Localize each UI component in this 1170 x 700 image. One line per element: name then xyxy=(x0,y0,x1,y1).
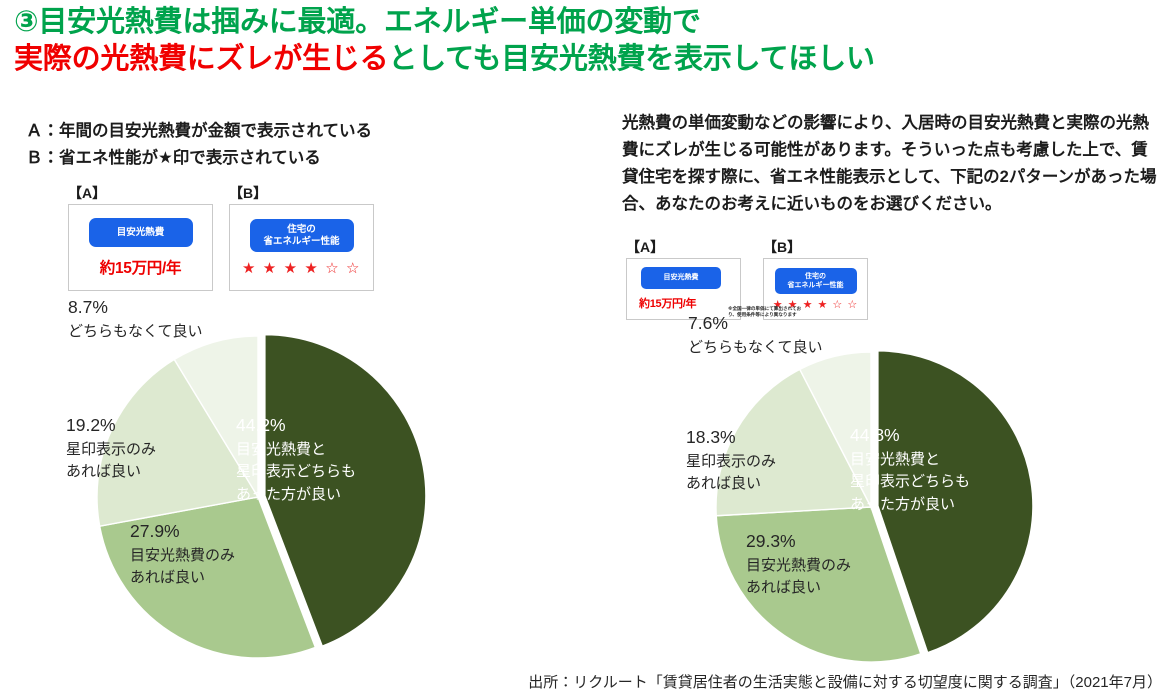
left-box-a-column: 【A】 目安光熱費 約15万円/年 xyxy=(68,186,213,291)
left-box-a: 目安光熱費 約15万円/年 xyxy=(68,204,213,291)
left-legend: Ａ：年間の目安光熱費が金額で表示されている Ｂ：省エネ性能が★印で表示されている xyxy=(26,118,372,171)
source-note: 出所：リクルート「賃貸居住者の生活実態と設備に対する切望度に関する調査」（202… xyxy=(0,671,1162,692)
left-box-a-pill: 目安光熱費 xyxy=(89,218,193,247)
right-pie-label-neither: 7.6%どちらもなくて良い xyxy=(688,310,823,359)
left-box-b-column: 【B】 住宅の 省エネルギー性能 ★ ★ ★ ★ ☆ ☆ xyxy=(229,186,374,291)
right-box-b-pill: 住宅の 省エネルギー性能 xyxy=(775,268,857,294)
left-box-b-pill: 住宅の 省エネルギー性能 xyxy=(250,219,354,252)
left-box-a-tag: 【A】 xyxy=(68,186,213,201)
right-pie-label-star-only: 18.3%星印表示のみあれば良い xyxy=(686,424,776,496)
title-line-2-green: としても目安光熱費を表示してほしい xyxy=(388,43,874,75)
title-line-2: 実際の光熱費にズレが生じるとしても目安光熱費を表示してほしい xyxy=(14,41,1164,78)
right-pie-label-both: 44.8%目安光熱費と星印表示どちらもあった方が良い xyxy=(850,422,970,517)
left-pie-chart: 44.2%目安光熱費と星印表示どちらもあった方が良い 27.9%目安光熱費のみあ… xyxy=(88,332,428,662)
left-legend-a: Ａ：年間の目安光熱費が金額で表示されている xyxy=(26,118,372,145)
right-pie-chart: 44.8%目安光熱費と星印表示どちらもあった方が良い 29.3%目安光熱費のみあ… xyxy=(706,348,1036,666)
left-box-b-pill-line2: 省エネルギー性能 xyxy=(263,236,339,248)
left-ab-boxes: 【A】 目安光熱費 約15万円/年 【B】 住宅の 省エネルギー性能 ★ ★ ★… xyxy=(68,186,374,291)
left-box-b-star-rating: ★ ★ ★ ★ ☆ ☆ xyxy=(242,261,361,276)
right-ab-boxes: 【A】 目安光熱費 約15万円/年 ※全国一律の単価にて算出されており、使用条件… xyxy=(626,240,868,320)
right-pie-label-cost-only: 29.3%目安光熱費のみあれば良い xyxy=(746,528,851,600)
title-line-2-red: 実際の光熱費にズレが生じる xyxy=(14,43,388,75)
left-box-b-tag: 【B】 xyxy=(229,186,374,201)
right-box-a-pill: 目安光熱費 xyxy=(641,267,721,289)
right-box-b-pill-line1: 住宅の xyxy=(805,272,826,281)
right-box-a-amount: 約15万円/年 xyxy=(639,295,696,311)
left-pie-label-both: 44.2%目安光熱費と星印表示どちらもあった方が良い xyxy=(236,412,356,507)
title-line-1: ③目安光熱費は掴みに最適。エネルギー単価の変動で xyxy=(14,4,1164,41)
left-pie-label-neither: 8.7%どちらもなくて良い xyxy=(68,294,203,343)
left-pie-label-cost-only: 27.9%目安光熱費のみあれば良い xyxy=(130,518,235,590)
page-title: ③目安光熱費は掴みに最適。エネルギー単価の変動で 実際の光熱費にズレが生じるとし… xyxy=(14,4,1164,78)
left-box-a-amount: 約15万円/年 xyxy=(100,256,181,278)
right-box-b-tag: 【B】 xyxy=(763,240,868,255)
left-box-b-pill-line1: 住宅の xyxy=(287,224,316,236)
left-box-b: 住宅の 省エネルギー性能 ★ ★ ★ ★ ☆ ☆ xyxy=(229,204,374,291)
right-box-b-pill-line2: 省エネルギー性能 xyxy=(788,281,844,290)
left-legend-b: Ｂ：省エネ性能が★印で表示されている xyxy=(26,145,372,172)
right-box-a-column: 【A】 目安光熱費 約15万円/年 ※全国一律の単価にて算出されており、使用条件… xyxy=(626,240,741,320)
right-box-a-tag: 【A】 xyxy=(626,240,741,255)
left-pie-label-star-only: 19.2%星印表示のみあれば良い xyxy=(66,412,156,484)
right-description: 光熱費の単価変動などの影響により、入居時の目安光熱費と実際の光熱費にズレが生じる… xyxy=(622,110,1162,218)
